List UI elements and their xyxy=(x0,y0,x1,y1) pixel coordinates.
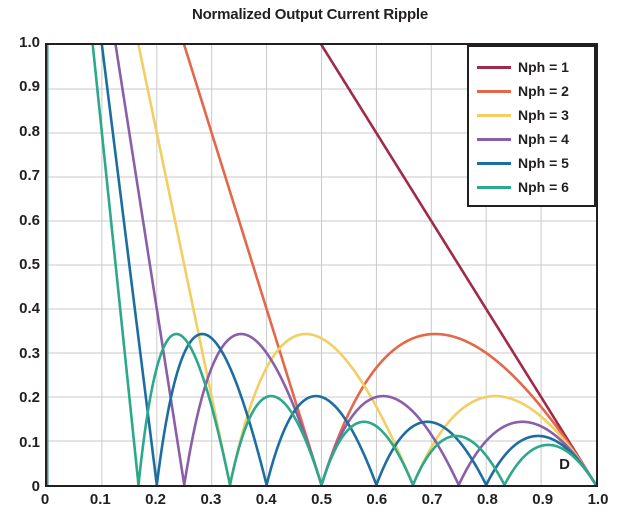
y-axis-tick: 0.1 xyxy=(0,434,40,451)
x-axis-tick: 0.1 xyxy=(90,491,111,508)
y-axis-tick: 0.9 xyxy=(0,78,40,95)
plot-area: D Nph = 1Nph = 2Nph = 3Nph = 4Nph = 5Nph… xyxy=(45,43,598,487)
x-axis-tick: 0.9 xyxy=(532,491,553,508)
chart-page: Normalized Output Current Ripple 00.10.2… xyxy=(0,0,620,518)
legend-line-swatch-icon xyxy=(477,162,511,165)
page-title: Normalized Output Current Ripple xyxy=(0,6,620,23)
legend-line-swatch-icon xyxy=(477,138,511,141)
x-axis-tick: 0.6 xyxy=(366,491,387,508)
legend-line-swatch-icon xyxy=(477,186,511,189)
x-axis-tick: 0.7 xyxy=(422,491,443,508)
legend-item-3[interactable]: Nph = 3 xyxy=(469,103,594,127)
x-axis-tick: 0.8 xyxy=(477,491,498,508)
legend-item-label: Nph = 5 xyxy=(518,155,569,171)
legend-item-label: Nph = 6 xyxy=(518,179,569,195)
legend-item-label: Nph = 3 xyxy=(518,107,569,123)
y-axis-tick: 0.8 xyxy=(0,123,40,140)
y-axis-tick: 0.7 xyxy=(0,167,40,184)
legend-item-2[interactable]: Nph = 2 xyxy=(469,79,594,103)
legend-item-label: Nph = 4 xyxy=(518,131,569,147)
y-axis-tick: 0.3 xyxy=(0,345,40,362)
legend-line-swatch-icon xyxy=(477,90,511,93)
legend-item-label: Nph = 2 xyxy=(518,83,569,99)
x-axis-tick: 0 xyxy=(41,491,49,508)
y-axis-tick-labels: 00.10.20.30.40.50.60.70.80.91.0 xyxy=(0,0,40,518)
legend-item-1[interactable]: Nph = 1 xyxy=(469,55,594,79)
y-axis-tick: 1.0 xyxy=(0,34,40,51)
legend-item-5[interactable]: Nph = 5 xyxy=(469,151,594,175)
legend: Nph = 1Nph = 2Nph = 3Nph = 4Nph = 5Nph =… xyxy=(467,45,596,207)
x-axis-tick: 0.3 xyxy=(200,491,221,508)
y-axis-tick: 0.2 xyxy=(0,389,40,406)
legend-item-6[interactable]: Nph = 6 xyxy=(469,175,594,199)
legend-item-4[interactable]: Nph = 4 xyxy=(469,127,594,151)
legend-item-label: Nph = 1 xyxy=(518,59,569,75)
x-axis-tick: 0.5 xyxy=(311,491,332,508)
legend-line-swatch-icon xyxy=(477,66,511,69)
x-axis-tick-labels: 00.10.20.30.40.50.60.70.80.91.0 xyxy=(0,491,620,515)
y-axis-tick: 0.5 xyxy=(0,256,40,273)
x-axis-tick: 0.4 xyxy=(256,491,277,508)
y-axis-tick: 0.4 xyxy=(0,300,40,317)
x-axis-tick: 0.2 xyxy=(145,491,166,508)
y-axis-tick: 0.6 xyxy=(0,212,40,229)
x-axis-tick: 1.0 xyxy=(588,491,609,508)
legend-line-swatch-icon xyxy=(477,114,511,117)
x-axis-label: D xyxy=(559,456,570,473)
